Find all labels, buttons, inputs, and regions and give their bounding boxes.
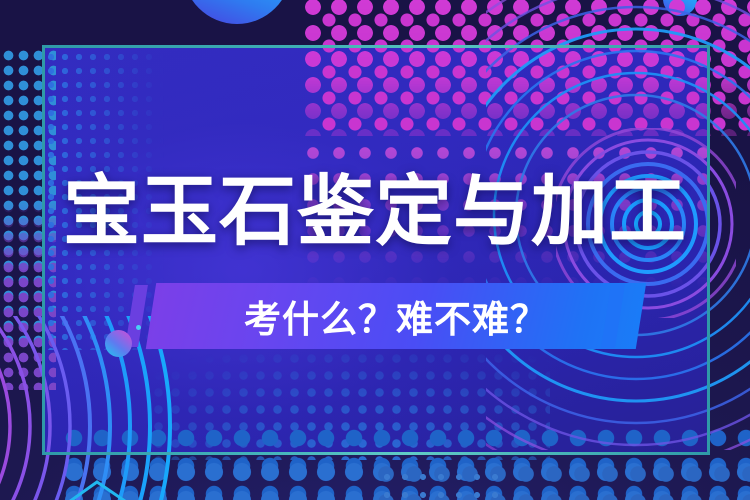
cyan-dot-decoration xyxy=(136,325,141,330)
poster-frame-bottom-accent xyxy=(42,452,710,455)
page-title: 宝玉石鉴定与加工 xyxy=(0,174,750,251)
chevron-icon xyxy=(52,474,202,500)
poster-canvas: 宝玉石鉴定与加工 考什么？难不难？ xyxy=(0,0,750,500)
subtitle-text: 考什么？难不难？ xyxy=(151,283,641,349)
poster-frame-top-accent xyxy=(42,45,710,48)
subtitle-banner: 考什么？难不难？ xyxy=(110,281,630,353)
chevron-decoration xyxy=(52,474,202,500)
sparse-dots-bottom-right xyxy=(378,468,498,500)
gradient-circle-decoration xyxy=(105,330,132,357)
